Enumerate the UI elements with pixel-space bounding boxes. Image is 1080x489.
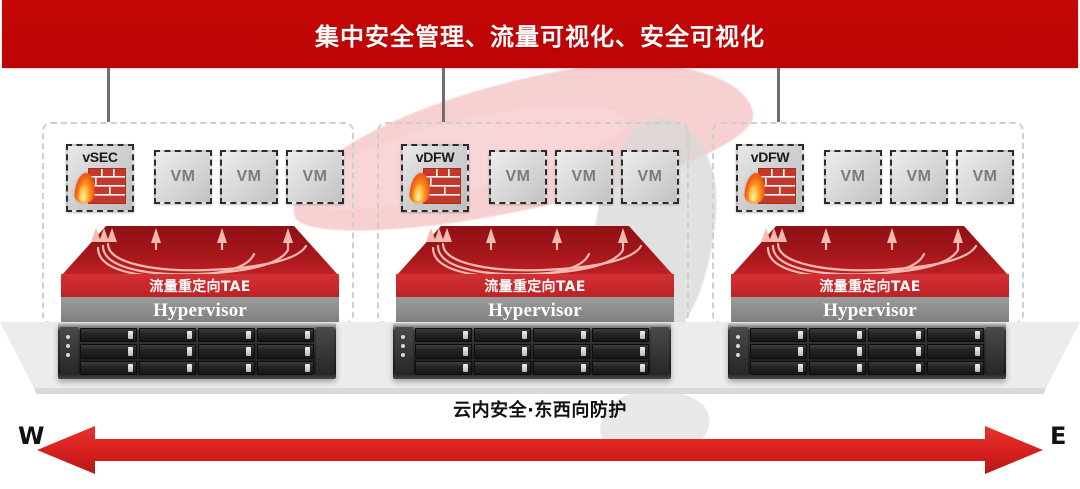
drive-bay: [139, 361, 196, 375]
drive-bay: [809, 361, 866, 375]
drive-bay: [80, 328, 137, 342]
vm-label: VM: [303, 168, 328, 186]
vm-label: VM: [907, 168, 932, 186]
hypervisor-band-label-3: Hypervisor: [823, 300, 917, 322]
hypervisor-band-label-2: Hypervisor: [488, 300, 582, 322]
direction-label-east: E: [1050, 422, 1066, 450]
drive-bay: [592, 344, 649, 358]
vm-box-2-3[interactable]: VM: [621, 150, 679, 204]
vm-label: VM: [973, 168, 998, 186]
hypervisor-band-2: Hypervisor: [396, 297, 674, 325]
vm-box-3-1[interactable]: VM: [824, 150, 882, 204]
drive-bay: [927, 344, 984, 358]
connector-line-group-1: [107, 68, 110, 122]
drive-bay: [474, 344, 531, 358]
vm-box-1-2[interactable]: VM: [220, 150, 278, 204]
vm-label: VM: [237, 168, 262, 186]
vm-label: VM: [638, 168, 663, 186]
drive-bay: [533, 344, 590, 358]
server-right-ear: [316, 327, 334, 375]
direction-label-west: W: [18, 422, 44, 450]
vm-box-2-1[interactable]: VM: [489, 150, 547, 204]
firewall-icon: [74, 166, 126, 204]
connector-line-group-3: [777, 68, 780, 122]
drive-bay: [80, 361, 137, 375]
drive-bay: [415, 328, 472, 342]
server-left-ear: [60, 327, 78, 375]
firewall-icon: [409, 166, 461, 204]
firewall-vm-box-3[interactable]: vDFW: [736, 144, 804, 212]
drive-bay: [927, 328, 984, 342]
vm-box-3-3[interactable]: VM: [956, 150, 1014, 204]
host-group-2[interactable]: vDFW VM VM VM: [377, 122, 689, 324]
drive-bay: [868, 344, 925, 358]
firewall-vm-label-3: vDFW: [751, 150, 789, 164]
server-led: [66, 335, 70, 339]
server-left-ear: [730, 327, 748, 375]
drive-bay: [809, 328, 866, 342]
server-right-ear: [986, 327, 1004, 375]
vm-row-1: vSEC VM VM VM: [44, 144, 352, 208]
hypervisor-stack-1: 流量重定向TAE Hypervisor: [48, 224, 352, 320]
drive-bay: [80, 344, 137, 358]
redirect-band-2: 流量重定向TAE: [396, 274, 674, 297]
hypervisor-band-label-1: Hypervisor: [153, 300, 247, 322]
redirect-band-label-3: 流量重定向TAE: [819, 276, 920, 296]
drive-bay: [474, 361, 531, 375]
drive-bay: [257, 328, 314, 342]
hypervisor-stack-3: 流量重定向TAE Hypervisor: [718, 224, 1022, 320]
drive-bay: [198, 344, 255, 358]
drive-bay-grid: [80, 328, 314, 375]
server-led: [736, 335, 740, 339]
diagram-canvas: 集中安全管理、流量可视化、安全可视化 vSEC VM VM VM: [0, 0, 1080, 489]
drive-bay: [592, 361, 649, 375]
server-led: [401, 344, 405, 348]
server-led: [736, 353, 740, 357]
trapezoid-top-surface-2: [383, 224, 687, 276]
vm-label: VM: [506, 168, 531, 186]
server-chassis: [58, 323, 336, 379]
vm-row-2: vDFW VM VM VM: [379, 144, 687, 208]
drive-bay: [474, 328, 531, 342]
drive-bay-grid: [750, 328, 984, 375]
drive-bay: [750, 361, 807, 375]
vm-label: VM: [572, 168, 597, 186]
redirect-band-label-1: 流量重定向TAE: [149, 276, 250, 296]
drive-bay: [533, 361, 590, 375]
firewall-icon: [744, 166, 796, 204]
host-group-3[interactable]: vDFW VM VM VM: [712, 122, 1024, 324]
rack-server-1: [58, 323, 336, 379]
drive-bay: [257, 344, 314, 358]
host-group-1[interactable]: vSEC VM VM VM: [42, 122, 354, 324]
server-right-ear: [651, 327, 669, 375]
redirect-band-label-2: 流量重定向TAE: [484, 276, 585, 296]
hypervisor-band-1: Hypervisor: [61, 297, 339, 325]
drive-bay-grid: [415, 328, 649, 375]
double-headed-arrow-icon: [0, 420, 1080, 482]
firewall-vm-label-1: vSEC: [82, 150, 117, 164]
diagram-caption: 云内安全·东西向防护: [0, 396, 1080, 422]
drive-bay: [198, 361, 255, 375]
vm-label: VM: [841, 168, 866, 186]
server-chassis: [393, 323, 671, 379]
firewall-vm-box-2[interactable]: vDFW: [401, 144, 469, 212]
hypervisor-stack-2: 流量重定向TAE Hypervisor: [383, 224, 687, 320]
connector-line-group-2: [442, 68, 445, 122]
drive-bay: [868, 328, 925, 342]
vm-row-3: vDFW VM VM VM: [714, 144, 1022, 208]
server-chassis: [728, 323, 1006, 379]
firewall-vm-label-2: vDFW: [416, 150, 454, 164]
vm-box-3-2[interactable]: VM: [890, 150, 948, 204]
server-led: [401, 353, 405, 357]
rack-server-3: [728, 323, 1006, 379]
drive-bay: [139, 344, 196, 358]
east-west-arrow-group: W E: [0, 420, 1080, 482]
drive-bay: [415, 361, 472, 375]
drive-bay: [750, 344, 807, 358]
drive-bay: [592, 328, 649, 342]
drive-bay: [533, 328, 590, 342]
vm-box-1-1[interactable]: VM: [154, 150, 212, 204]
drive-bay: [927, 361, 984, 375]
header-banner: 集中安全管理、流量可视化、安全可视化: [2, 0, 1078, 68]
server-led: [66, 353, 70, 357]
vm-box-2-2[interactable]: VM: [555, 150, 613, 204]
drive-bay: [415, 344, 472, 358]
server-led: [736, 344, 740, 348]
server-led: [66, 344, 70, 348]
firewall-vm-box-1[interactable]: vSEC: [66, 144, 134, 212]
hypervisor-band-3: Hypervisor: [731, 297, 1009, 325]
drive-bay: [257, 361, 314, 375]
vm-label: VM: [171, 168, 196, 186]
redirect-band-3: 流量重定向TAE: [731, 274, 1009, 297]
server-left-ear: [395, 327, 413, 375]
drive-bay: [139, 328, 196, 342]
drive-bay: [198, 328, 255, 342]
drive-bay: [868, 361, 925, 375]
trapezoid-top-surface-1: [48, 224, 352, 276]
vm-box-1-3[interactable]: VM: [286, 150, 344, 204]
redirect-band-1: 流量重定向TAE: [61, 274, 339, 297]
drive-bay: [750, 328, 807, 342]
trapezoid-top-surface-3: [718, 224, 1022, 276]
rack-server-2: [393, 323, 671, 379]
server-led: [401, 335, 405, 339]
drive-bay: [809, 344, 866, 358]
banner-title: 集中安全管理、流量可视化、安全可视化: [315, 17, 765, 52]
